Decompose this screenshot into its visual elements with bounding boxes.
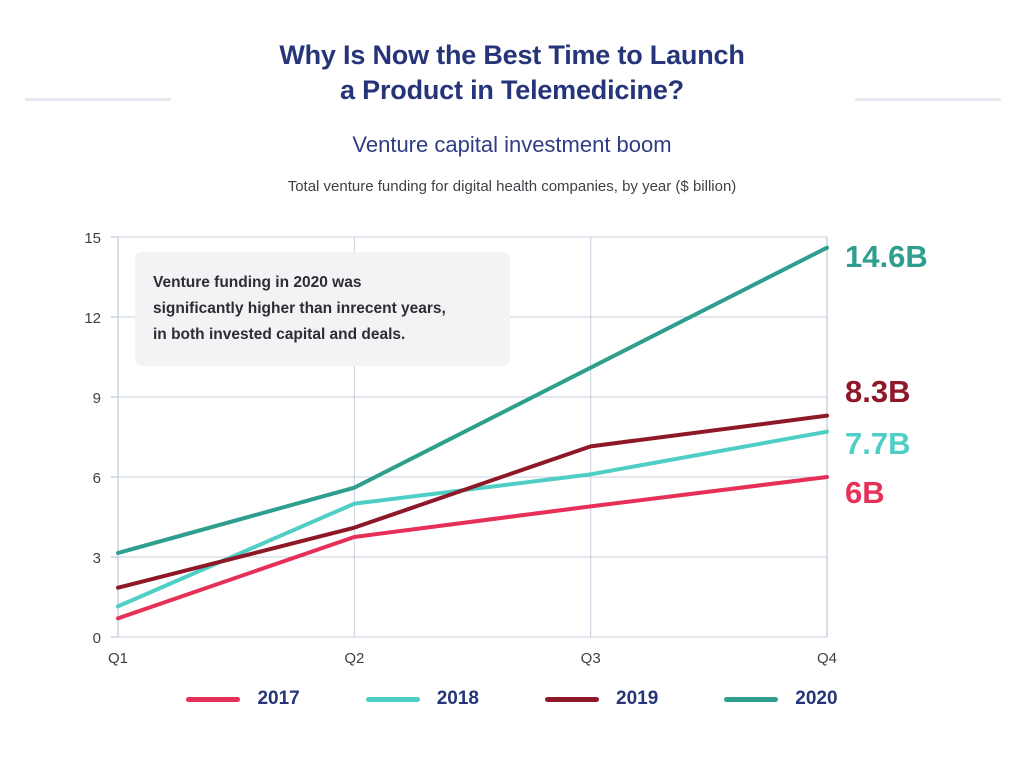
svg-text:12: 12 — [84, 310, 101, 327]
legend-label: 2020 — [795, 688, 837, 710]
end-value-label: 14.6B — [845, 241, 928, 272]
annotation-tooltip: Venture funding in 2020 was significantl… — [135, 252, 510, 366]
chart-page: Why Is Now the Best Time to Launch a Pro… — [0, 0, 1024, 761]
legend-item-2017[interactable]: 2017 — [186, 688, 299, 710]
y-tick-labels: 03691215 — [84, 230, 101, 647]
legend-label: 2018 — [437, 688, 479, 710]
legend-item-2020[interactable]: 2020 — [724, 688, 837, 710]
svg-text:9: 9 — [93, 390, 101, 407]
svg-text:6: 6 — [93, 470, 101, 487]
legend-swatch-icon — [366, 697, 420, 702]
legend-label: 2019 — [616, 688, 658, 710]
legend-swatch-icon — [724, 697, 778, 702]
end-value-label: 6B — [845, 477, 885, 508]
legend-swatch-icon — [186, 697, 240, 702]
annotation-line-2: significantly higher than inrecent years… — [153, 296, 490, 322]
legend-swatch-icon — [545, 697, 599, 702]
legend-label: 2017 — [257, 688, 299, 710]
svg-text:Q4: Q4 — [817, 650, 837, 667]
end-value-label: 7.7B — [845, 428, 910, 459]
annotation-line-3: in both invested capital and deals. — [153, 322, 490, 348]
svg-text:Q2: Q2 — [344, 650, 364, 667]
chart-legend: 2017201820192020 — [0, 688, 1024, 710]
legend-item-2018[interactable]: 2018 — [366, 688, 479, 710]
svg-text:15: 15 — [84, 230, 101, 247]
svg-text:3: 3 — [93, 550, 101, 567]
x-tick-labels: Q1Q2Q3Q4 — [108, 650, 837, 667]
legend-item-2019[interactable]: 2019 — [545, 688, 658, 710]
svg-text:Q3: Q3 — [581, 650, 601, 667]
svg-text:Q1: Q1 — [108, 650, 128, 667]
end-value-label: 8.3B — [845, 376, 910, 407]
annotation-line-1: Venture funding in 2020 was — [153, 270, 490, 296]
svg-text:0: 0 — [93, 630, 101, 647]
